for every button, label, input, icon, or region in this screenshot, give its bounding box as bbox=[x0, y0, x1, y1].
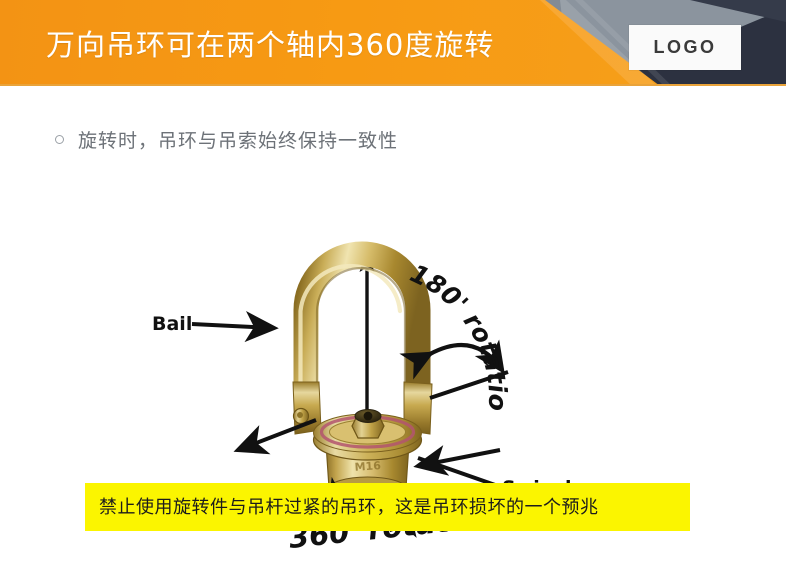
slide-root: 万向吊环可在两个轴内360度旋转 LOGO 旋转时，吊环与吊索始终保持一致性 bbox=[0, 0, 786, 574]
warning-highlight-bar: 禁止使用旋转件与吊杆过紧的吊环，这是吊环损坏的一个预兆 bbox=[85, 483, 690, 531]
left-axis-arrow bbox=[238, 420, 316, 450]
page-title: 万向吊环可在两个轴内360度旋转 bbox=[46, 22, 494, 64]
bail-leader-line bbox=[192, 324, 274, 328]
bail-outer bbox=[306, 254, 418, 408]
hollow-circle-icon bbox=[55, 135, 64, 144]
logo-placeholder[interactable]: LOGO bbox=[629, 25, 741, 70]
bail-annotation: Bail bbox=[152, 313, 274, 335]
slide-content: 旋转时，吊环与吊索始终保持一致性 bbox=[0, 86, 786, 574]
right-lower-arrow bbox=[418, 450, 500, 466]
warning-text: 禁止使用旋转件与吊杆过紧的吊环，这是吊环损坏的一个预兆 bbox=[99, 493, 599, 519]
swivel-bolt-socket bbox=[364, 412, 373, 421]
bail-label: Bail bbox=[152, 313, 192, 335]
slide-header: 万向吊环可在两个轴内360度旋转 LOGO bbox=[0, 0, 786, 86]
logo-label: LOGO bbox=[654, 37, 717, 58]
pivot-bolt-left-center bbox=[297, 412, 303, 418]
bullet-item: 旋转时，吊环与吊索始终保持一致性 bbox=[55, 126, 398, 153]
swivel-body-stamp: M16 bbox=[354, 459, 381, 474]
hoist-ring-object: M16 bbox=[293, 254, 432, 510]
bullet-item-label: 旋转时，吊环与吊索始终保持一致性 bbox=[78, 126, 398, 153]
